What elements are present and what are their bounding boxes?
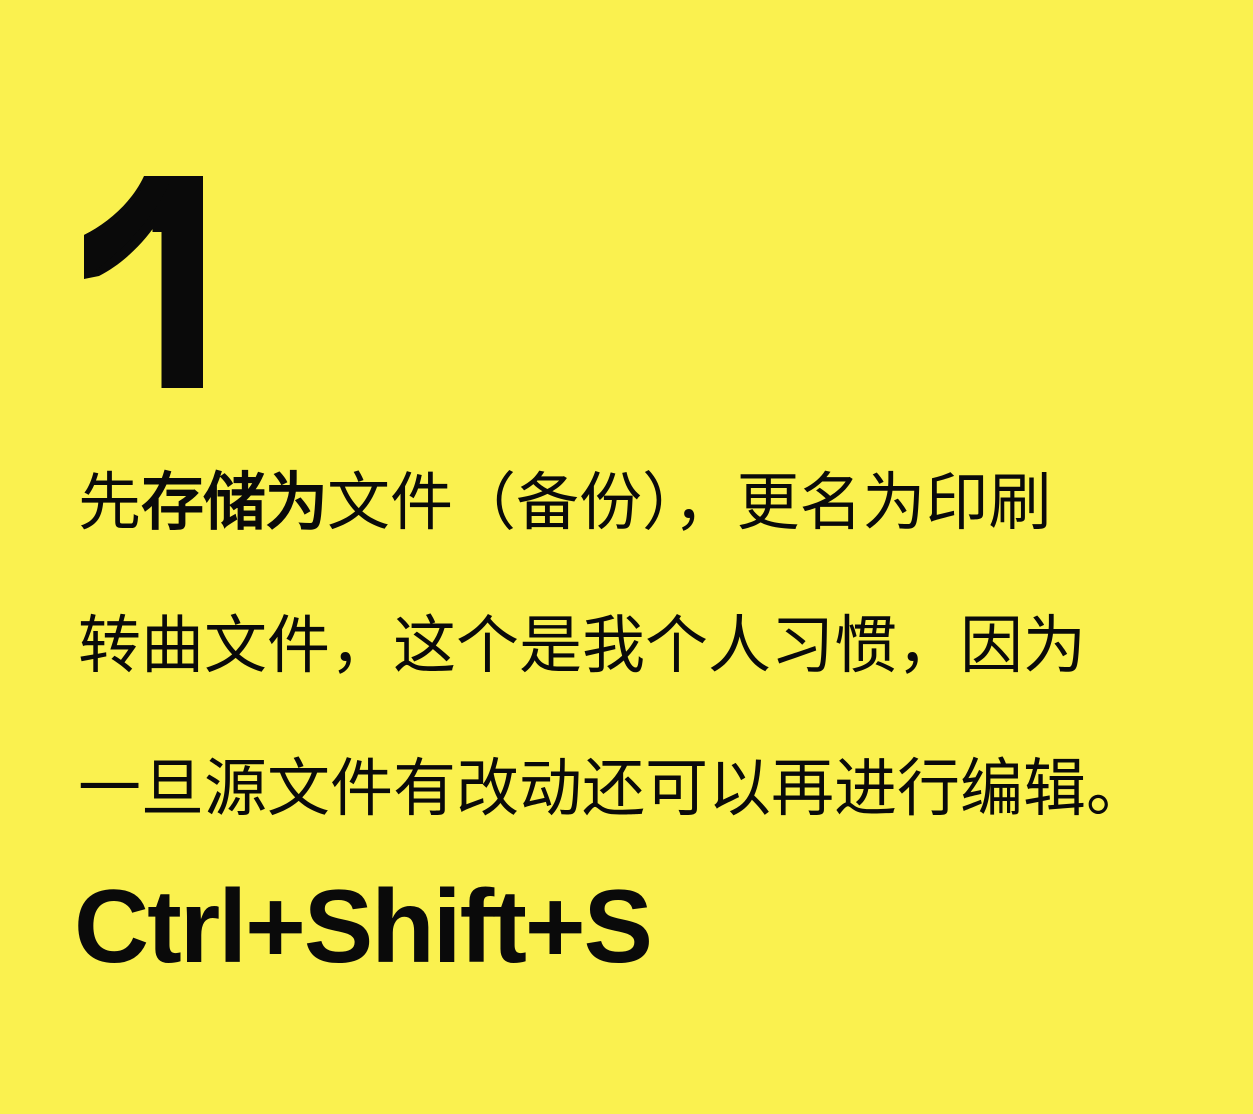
body-line-3-segment-1: 一旦源文件有改动还可以再进行编辑。 xyxy=(78,754,1149,824)
body-paragraph: 先存储为文件（备份），更名为印刷 转曲文件，这个是我个人习惯，因为 一旦源文件有… xyxy=(78,432,1188,861)
body-line-1-segment-1: 先 xyxy=(78,468,141,538)
body-line-2: 转曲文件，这个是我个人习惯，因为 xyxy=(78,575,1188,718)
body-line-3: 一旦源文件有改动还可以再进行编辑。 xyxy=(78,718,1188,861)
body-line-1-segment-2-emphasis: 存储为 xyxy=(141,468,327,538)
body-line-1: 先存储为文件（备份），更名为印刷 xyxy=(78,432,1188,575)
body-line-1-segment-3: 文件（备份），更名为印刷 xyxy=(327,468,1052,538)
step-card-slide: 1 先存储为文件（备份），更名为印刷 转曲文件，这个是我个人习惯，因为 一旦源文… xyxy=(0,0,1253,1114)
body-line-2-segment-1: 转曲文件，这个是我个人习惯，因为 xyxy=(78,611,1086,681)
keyboard-shortcut-label: Ctrl+Shift+S xyxy=(74,868,651,986)
numeral-one-icon xyxy=(74,176,204,388)
step-number-one: 1 xyxy=(74,176,204,388)
